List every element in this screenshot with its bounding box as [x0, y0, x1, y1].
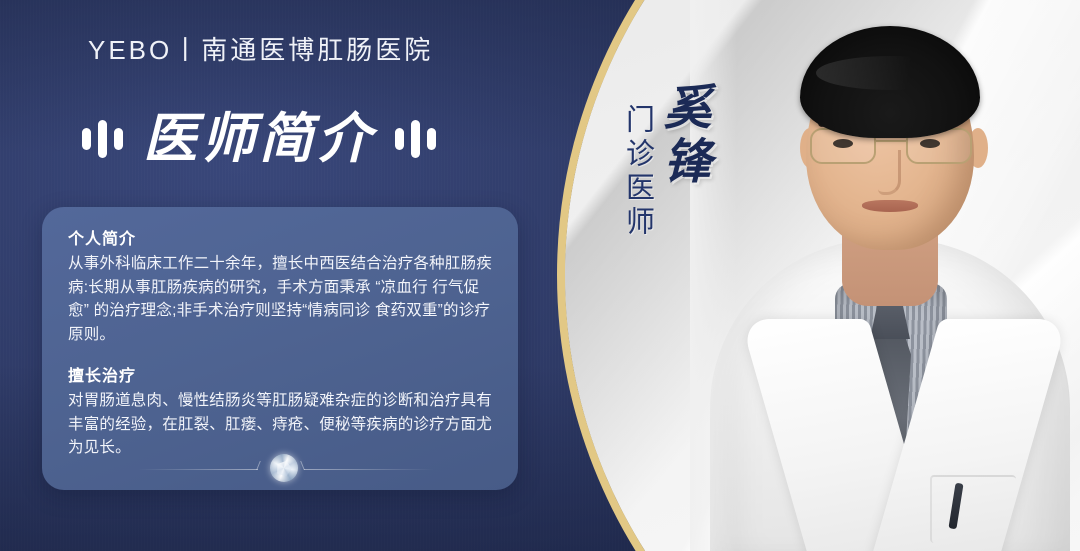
- doctor-name: 奚锋: [658, 82, 706, 190]
- diamond-gem-icon: [270, 454, 298, 482]
- three-bars-icon-right: [395, 117, 436, 161]
- bar-short: [427, 128, 436, 150]
- bar-short: [114, 128, 123, 150]
- bar-short: [395, 128, 404, 150]
- page-title: 医师简介: [82, 112, 436, 166]
- doctor-name-block: 奚锋 门诊医师: [622, 82, 706, 240]
- footer-line-left: [138, 469, 258, 470]
- section-body-specialty: 对胃肠道息肉、慢性结肠炎等肛肠疑难杂症的诊断和治疗具有丰富的经验，在肛裂、肛瘘、…: [68, 389, 494, 460]
- profile-card-content: 个人简介 从事外科临床工作二十余年，擅长中西医结合治疗各种肛肠疾病:长期从事肛肠…: [42, 207, 518, 460]
- section-heading-specialty: 擅长治疗: [68, 362, 494, 386]
- profile-card: 个人简介 从事外科临床工作二十余年，擅长中西医结合治疗各种肛肠疾病:长期从事肛肠…: [42, 207, 518, 490]
- doctor-portrait: [690, 0, 1080, 551]
- portrait-left-fade: [690, 0, 1080, 551]
- bar-tall: [98, 120, 107, 158]
- doctor-role: 门诊医师: [622, 104, 652, 240]
- section-heading-personal: 个人简介: [68, 225, 494, 249]
- bar-tall: [411, 120, 420, 158]
- footer-line-right: [304, 469, 434, 470]
- section-spacer: [68, 346, 494, 362]
- bar-short: [82, 128, 91, 150]
- card-footer-ornament: [42, 454, 518, 476]
- section-body-personal: 从事外科临床工作二十余年，擅长中西医结合治疗各种肛肠疾病:长期从事肛肠疾病的研究…: [68, 252, 494, 346]
- three-bars-icon-left: [82, 117, 123, 161]
- page-title-text: 医师简介: [143, 112, 375, 166]
- footer-tick-left: [256, 461, 261, 470]
- doctor-profile-poster: 奚锋 门诊医师 YEBO丨南通医博肛肠医院 医师简介 个人简介 从事外科临床工作…: [0, 0, 1080, 551]
- brand-title: YEBO丨南通医博肛肠医院: [88, 30, 433, 67]
